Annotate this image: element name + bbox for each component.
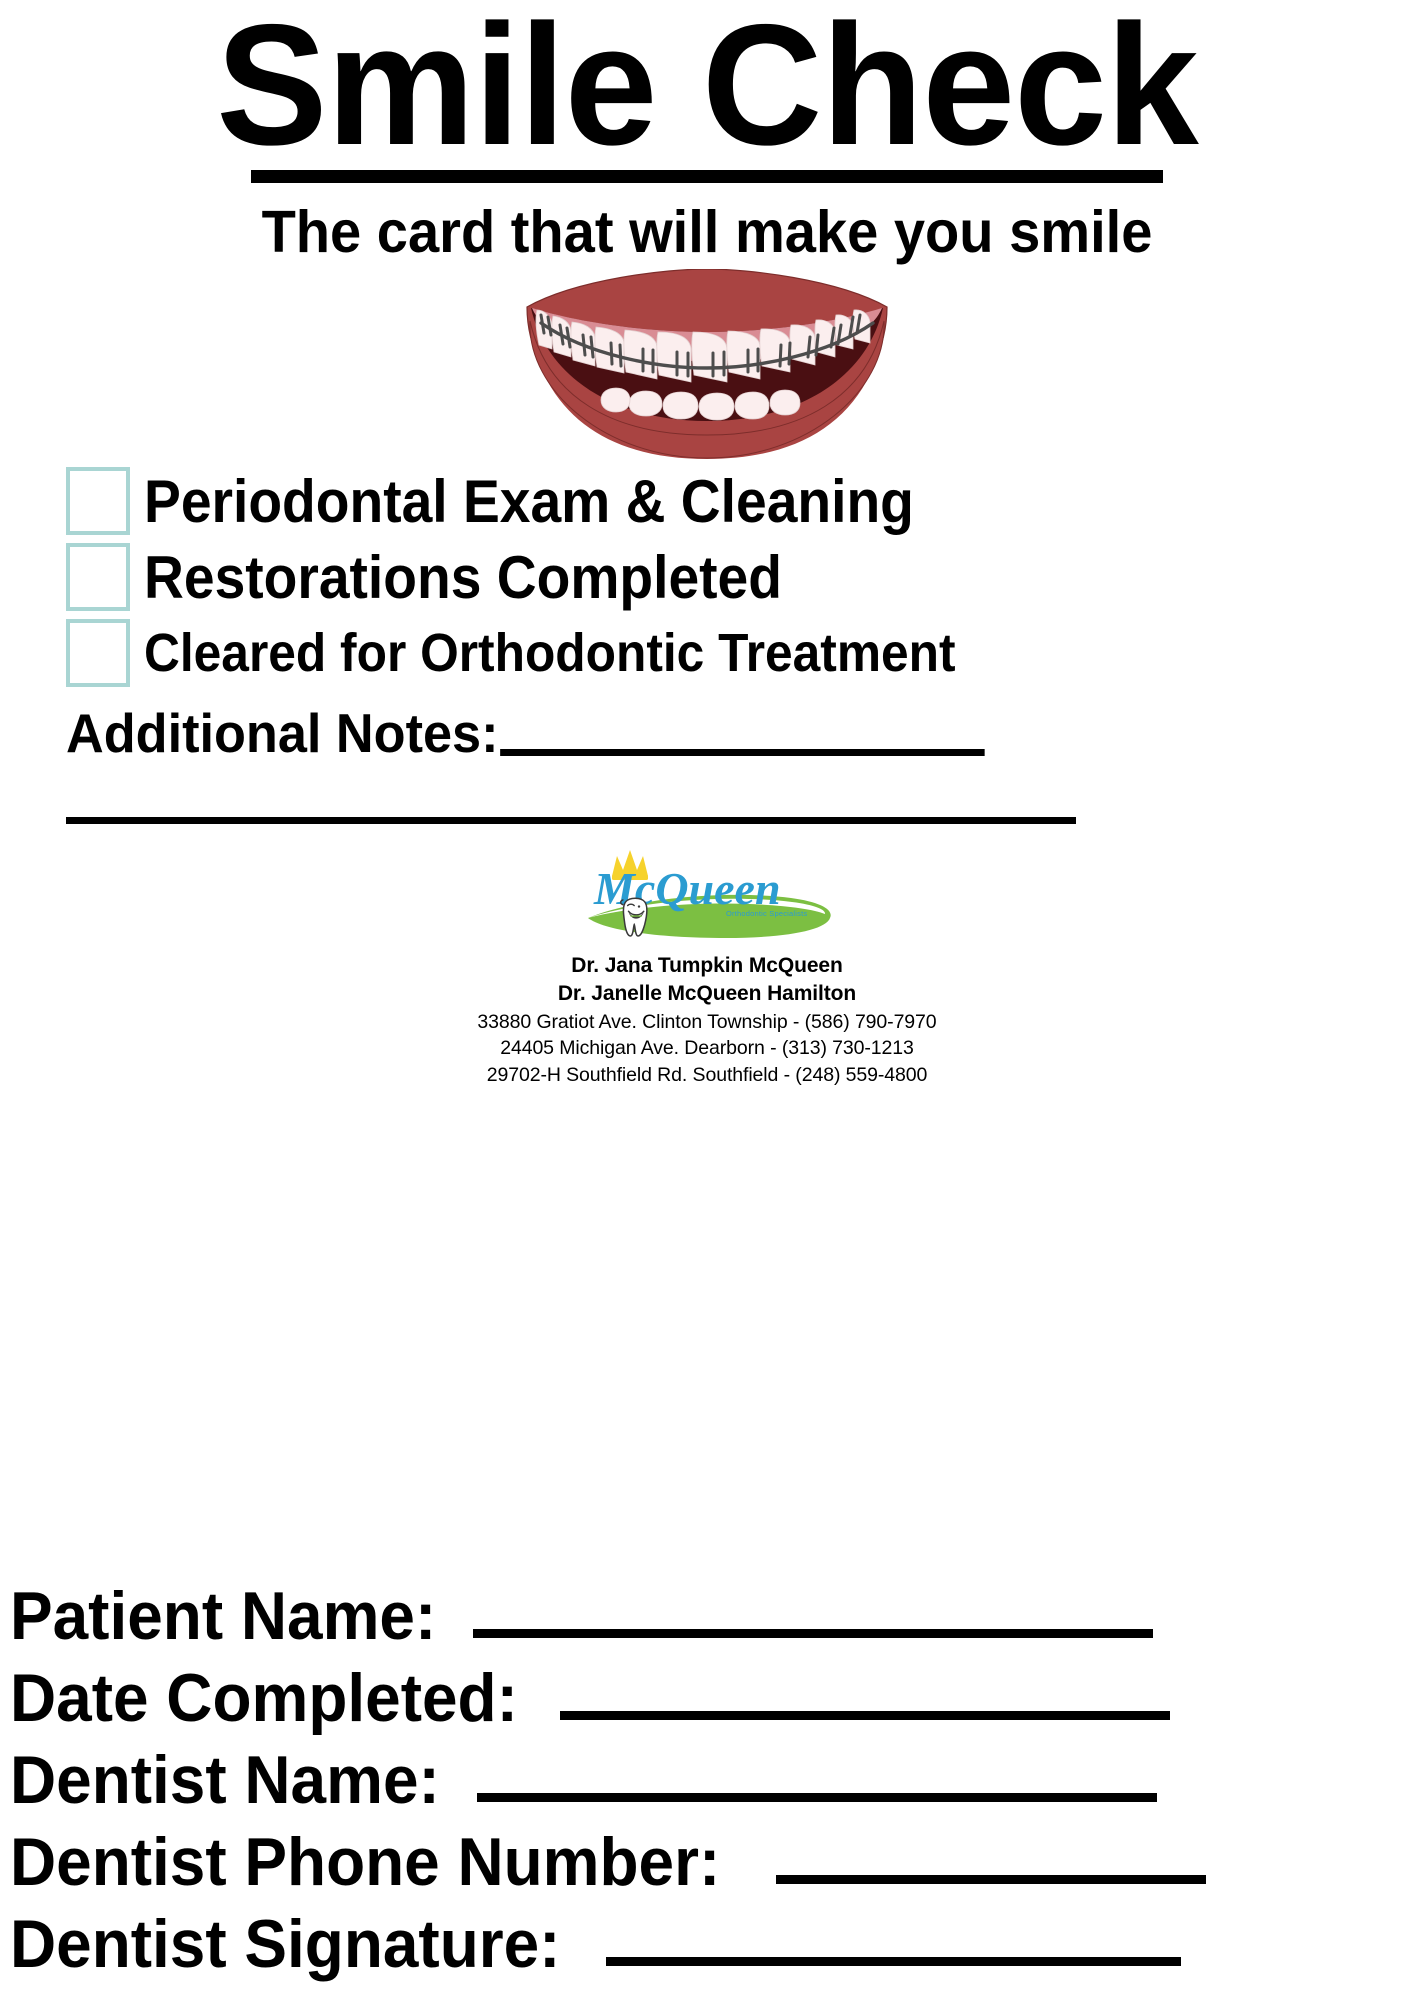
form-input-dentist-phone[interactable] — [776, 1875, 1206, 1884]
doctor-name-2: Dr. Janelle McQueen Hamilton — [0, 980, 1414, 1007]
mcqueen-orthodontics-logo: McQueen Orthodontic Specialists — [576, 846, 838, 946]
checklist-row-restorations[interactable]: Restorations Completed — [66, 539, 1414, 615]
additional-notes-input-line-1[interactable] — [500, 749, 985, 756]
form-input-date-completed[interactable] — [560, 1711, 1170, 1720]
card-header: Smile Check The card that will make you … — [0, 0, 1414, 265]
logo-tagline: Orthodontic Specialists — [726, 909, 807, 918]
checklist-row-periodontal[interactable]: Periodontal Exam & Cleaning — [66, 463, 1414, 539]
form-row-dentist-name: Dentist Name: — [10, 1746, 1404, 1814]
checkbox-cleared-for-orthodontic-treatment[interactable] — [66, 619, 130, 687]
practice-info-block: McQueen Orthodontic Specialists Dr. Jana… — [0, 846, 1414, 1088]
form-label-dentist-name: Dentist Name: — [10, 1746, 440, 1814]
smile-graphic-container — [0, 269, 1414, 459]
form-row-patient-name: Patient Name: — [10, 1582, 1404, 1650]
checklist-label-restorations: Restorations Completed — [144, 543, 782, 612]
form-row-dentist-phone: Dentist Phone Number: — [10, 1828, 1404, 1896]
additional-notes-input-line-2[interactable] — [66, 817, 1076, 824]
smiling-mouth-with-braces-icon — [517, 269, 897, 459]
form-label-dentist-phone: Dentist Phone Number: — [10, 1828, 720, 1896]
logo-wordmark: McQueen — [593, 863, 781, 914]
checklist-row-ortho-clearance[interactable]: Cleared for Orthodontic Treatment — [66, 615, 1414, 691]
checkbox-restorations-completed[interactable] — [66, 543, 130, 611]
page-subtitle: The card that will make you smile — [35, 199, 1378, 265]
form-input-dentist-name[interactable] — [477, 1793, 1157, 1802]
form-input-patient-name[interactable] — [473, 1629, 1153, 1638]
checklist-label-periodontal: Periodontal Exam & Cleaning — [144, 467, 914, 536]
office-location-2: 24405 Michigan Ave. Dearborn - (313) 730… — [0, 1035, 1414, 1062]
additional-notes-label: Additional Notes: — [66, 701, 499, 765]
form-label-dentist-signature: Dentist Signature: — [10, 1910, 560, 1978]
patient-form-fields: Patient Name: Date Completed: Dentist Na… — [10, 1582, 1404, 1992]
form-row-date-completed: Date Completed: — [10, 1664, 1404, 1732]
office-location-3: 29702-H Southfield Rd. Southfield - (248… — [0, 1062, 1414, 1089]
treatment-checklist: Periodontal Exam & Cleaning Restorations… — [0, 463, 1414, 691]
office-location-list: 33880 Gratiot Ave. Clinton Township - (5… — [0, 1009, 1414, 1089]
checkbox-periodontal-exam-cleaning[interactable] — [66, 467, 130, 535]
doctor-name-1: Dr. Jana Tumpkin McQueen — [0, 952, 1414, 979]
doctor-name-list: Dr. Jana Tumpkin McQueen Dr. Janelle McQ… — [0, 952, 1414, 1007]
additional-notes-first-line: Additional Notes: — [66, 701, 1347, 765]
page-title: Smile Check — [21, 6, 1393, 164]
form-input-dentist-signature[interactable] — [606, 1957, 1181, 1966]
checklist-label-ortho-clearance: Cleared for Orthodontic Treatment — [144, 622, 956, 684]
form-label-patient-name: Patient Name: — [10, 1582, 436, 1650]
form-row-dentist-signature: Dentist Signature: — [10, 1910, 1404, 1978]
office-location-1: 33880 Gratiot Ave. Clinton Township - (5… — [0, 1009, 1414, 1036]
additional-notes-section: Additional Notes: — [0, 701, 1414, 824]
form-label-date-completed: Date Completed: — [10, 1664, 518, 1732]
